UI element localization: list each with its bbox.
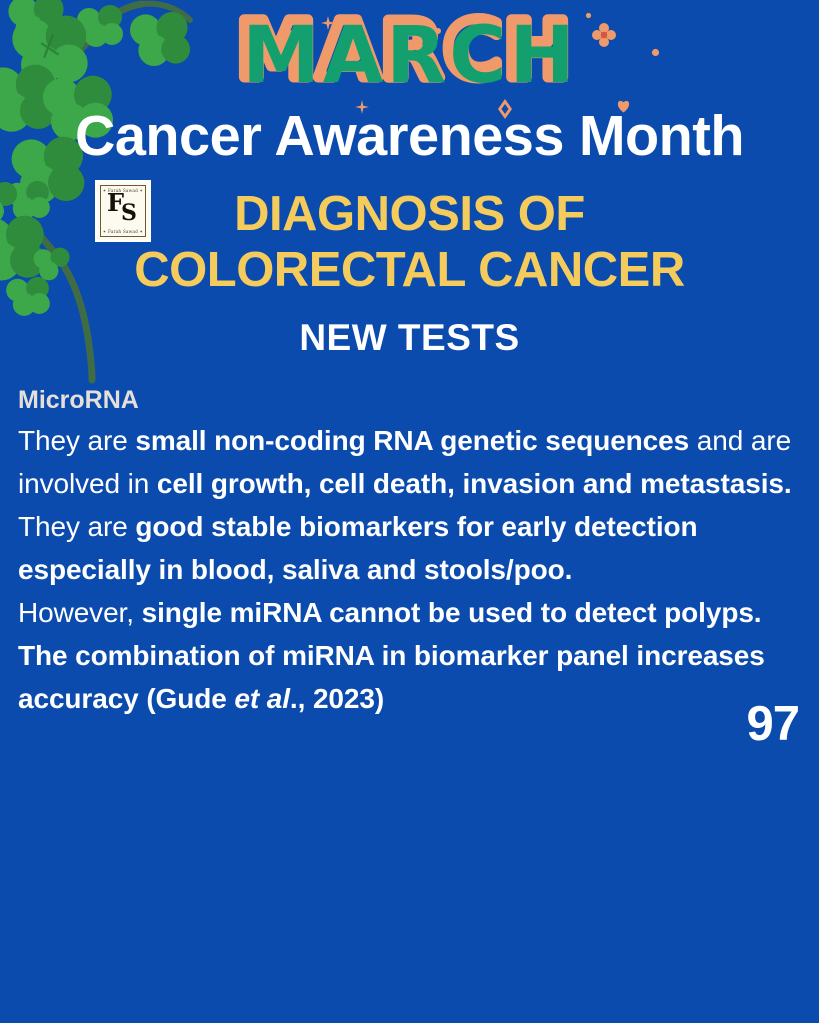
page-number: 97	[746, 696, 799, 752]
page-title: Cancer Awareness Month	[8, 103, 811, 169]
body-heading: MicroRNA	[18, 383, 808, 417]
body-paragraph: However, single miRNA cannot be used to …	[18, 591, 808, 634]
march-wordart: MARCH MARCH	[0, 8, 819, 103]
body-paragraph: They are good stable biomarkers for earl…	[18, 505, 808, 591]
body-paragraph: The combination of miRNA in biomarker pa…	[18, 634, 808, 720]
section-label: NEW TESTS	[0, 316, 819, 360]
slide-canvas: MARCH MARCH Cancer Awareness Month ✶ Far…	[0, 0, 819, 1023]
subtitle-line-1: DIAGNOSIS OF	[0, 186, 819, 242]
body-paragraph: They are small non-coding RNA genetic se…	[18, 419, 808, 505]
march-fill-layer: MARCH	[242, 11, 578, 101]
body-content: MicroRNA They are small non-coding RNA g…	[18, 383, 808, 720]
subtitle: DIAGNOSIS OF COLORECTAL CANCER	[0, 186, 819, 298]
subtitle-line-2: COLORECTAL CANCER	[0, 242, 819, 298]
